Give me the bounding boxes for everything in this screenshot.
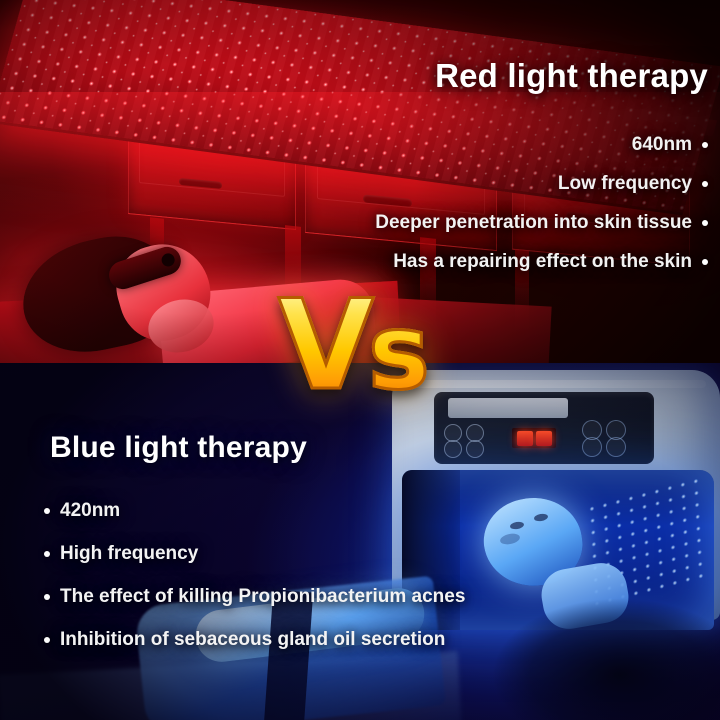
red-feature-item: Low frequency — [8, 173, 708, 195]
red-feature-text: Low frequency — [558, 173, 692, 194]
blue-feature-list: 420nm High frequency The effect of killi… — [44, 500, 684, 672]
blue-feature-item: High frequency — [44, 543, 684, 565]
comparison-poster: Red light therapy 640nm Low frequency De… — [0, 0, 720, 720]
bullet-dot-icon — [44, 594, 50, 600]
red-feature-item: Has a repairing effect on the skin — [8, 251, 708, 273]
red-feature-list: 640nm Low frequency Deeper penetration i… — [0, 134, 708, 290]
versus-letter-s: s — [368, 291, 424, 413]
bullet-dot-icon — [702, 220, 708, 226]
blue-feature-item: Inhibition of sebaceous gland oil secret… — [44, 629, 684, 651]
bullet-dot-icon — [702, 181, 708, 187]
versus-badge: Vs — [278, 288, 468, 408]
red-feature-text: 640nm — [632, 134, 692, 155]
versus-letter-v: V — [278, 274, 368, 418]
blue-section-title: Blue light therapy — [50, 431, 307, 465]
blue-feature-text: Inhibition of sebaceous gland oil secret… — [60, 629, 445, 650]
bullet-dot-icon — [44, 637, 50, 643]
blue-feature-item: The effect of killing Propionibacterium … — [44, 586, 684, 608]
bullet-dot-icon — [44, 508, 50, 514]
bullet-dot-icon — [44, 551, 50, 557]
blue-feature-text: High frequency — [60, 543, 198, 564]
red-section-title: Red light therapy — [435, 57, 708, 95]
blue-feature-item: 420nm — [44, 500, 684, 522]
bullet-dot-icon — [702, 259, 708, 265]
blue-feature-text: 420nm — [60, 500, 120, 521]
red-feature-item: 640nm — [8, 134, 708, 156]
bullet-dot-icon — [702, 142, 708, 148]
red-feature-text: Deeper penetration into skin tissue — [375, 212, 692, 233]
red-feature-text: Has a repairing effect on the skin — [393, 251, 692, 272]
red-feature-item: Deeper penetration into skin tissue — [8, 212, 708, 234]
blue-feature-text: The effect of killing Propionibacterium … — [60, 586, 465, 607]
